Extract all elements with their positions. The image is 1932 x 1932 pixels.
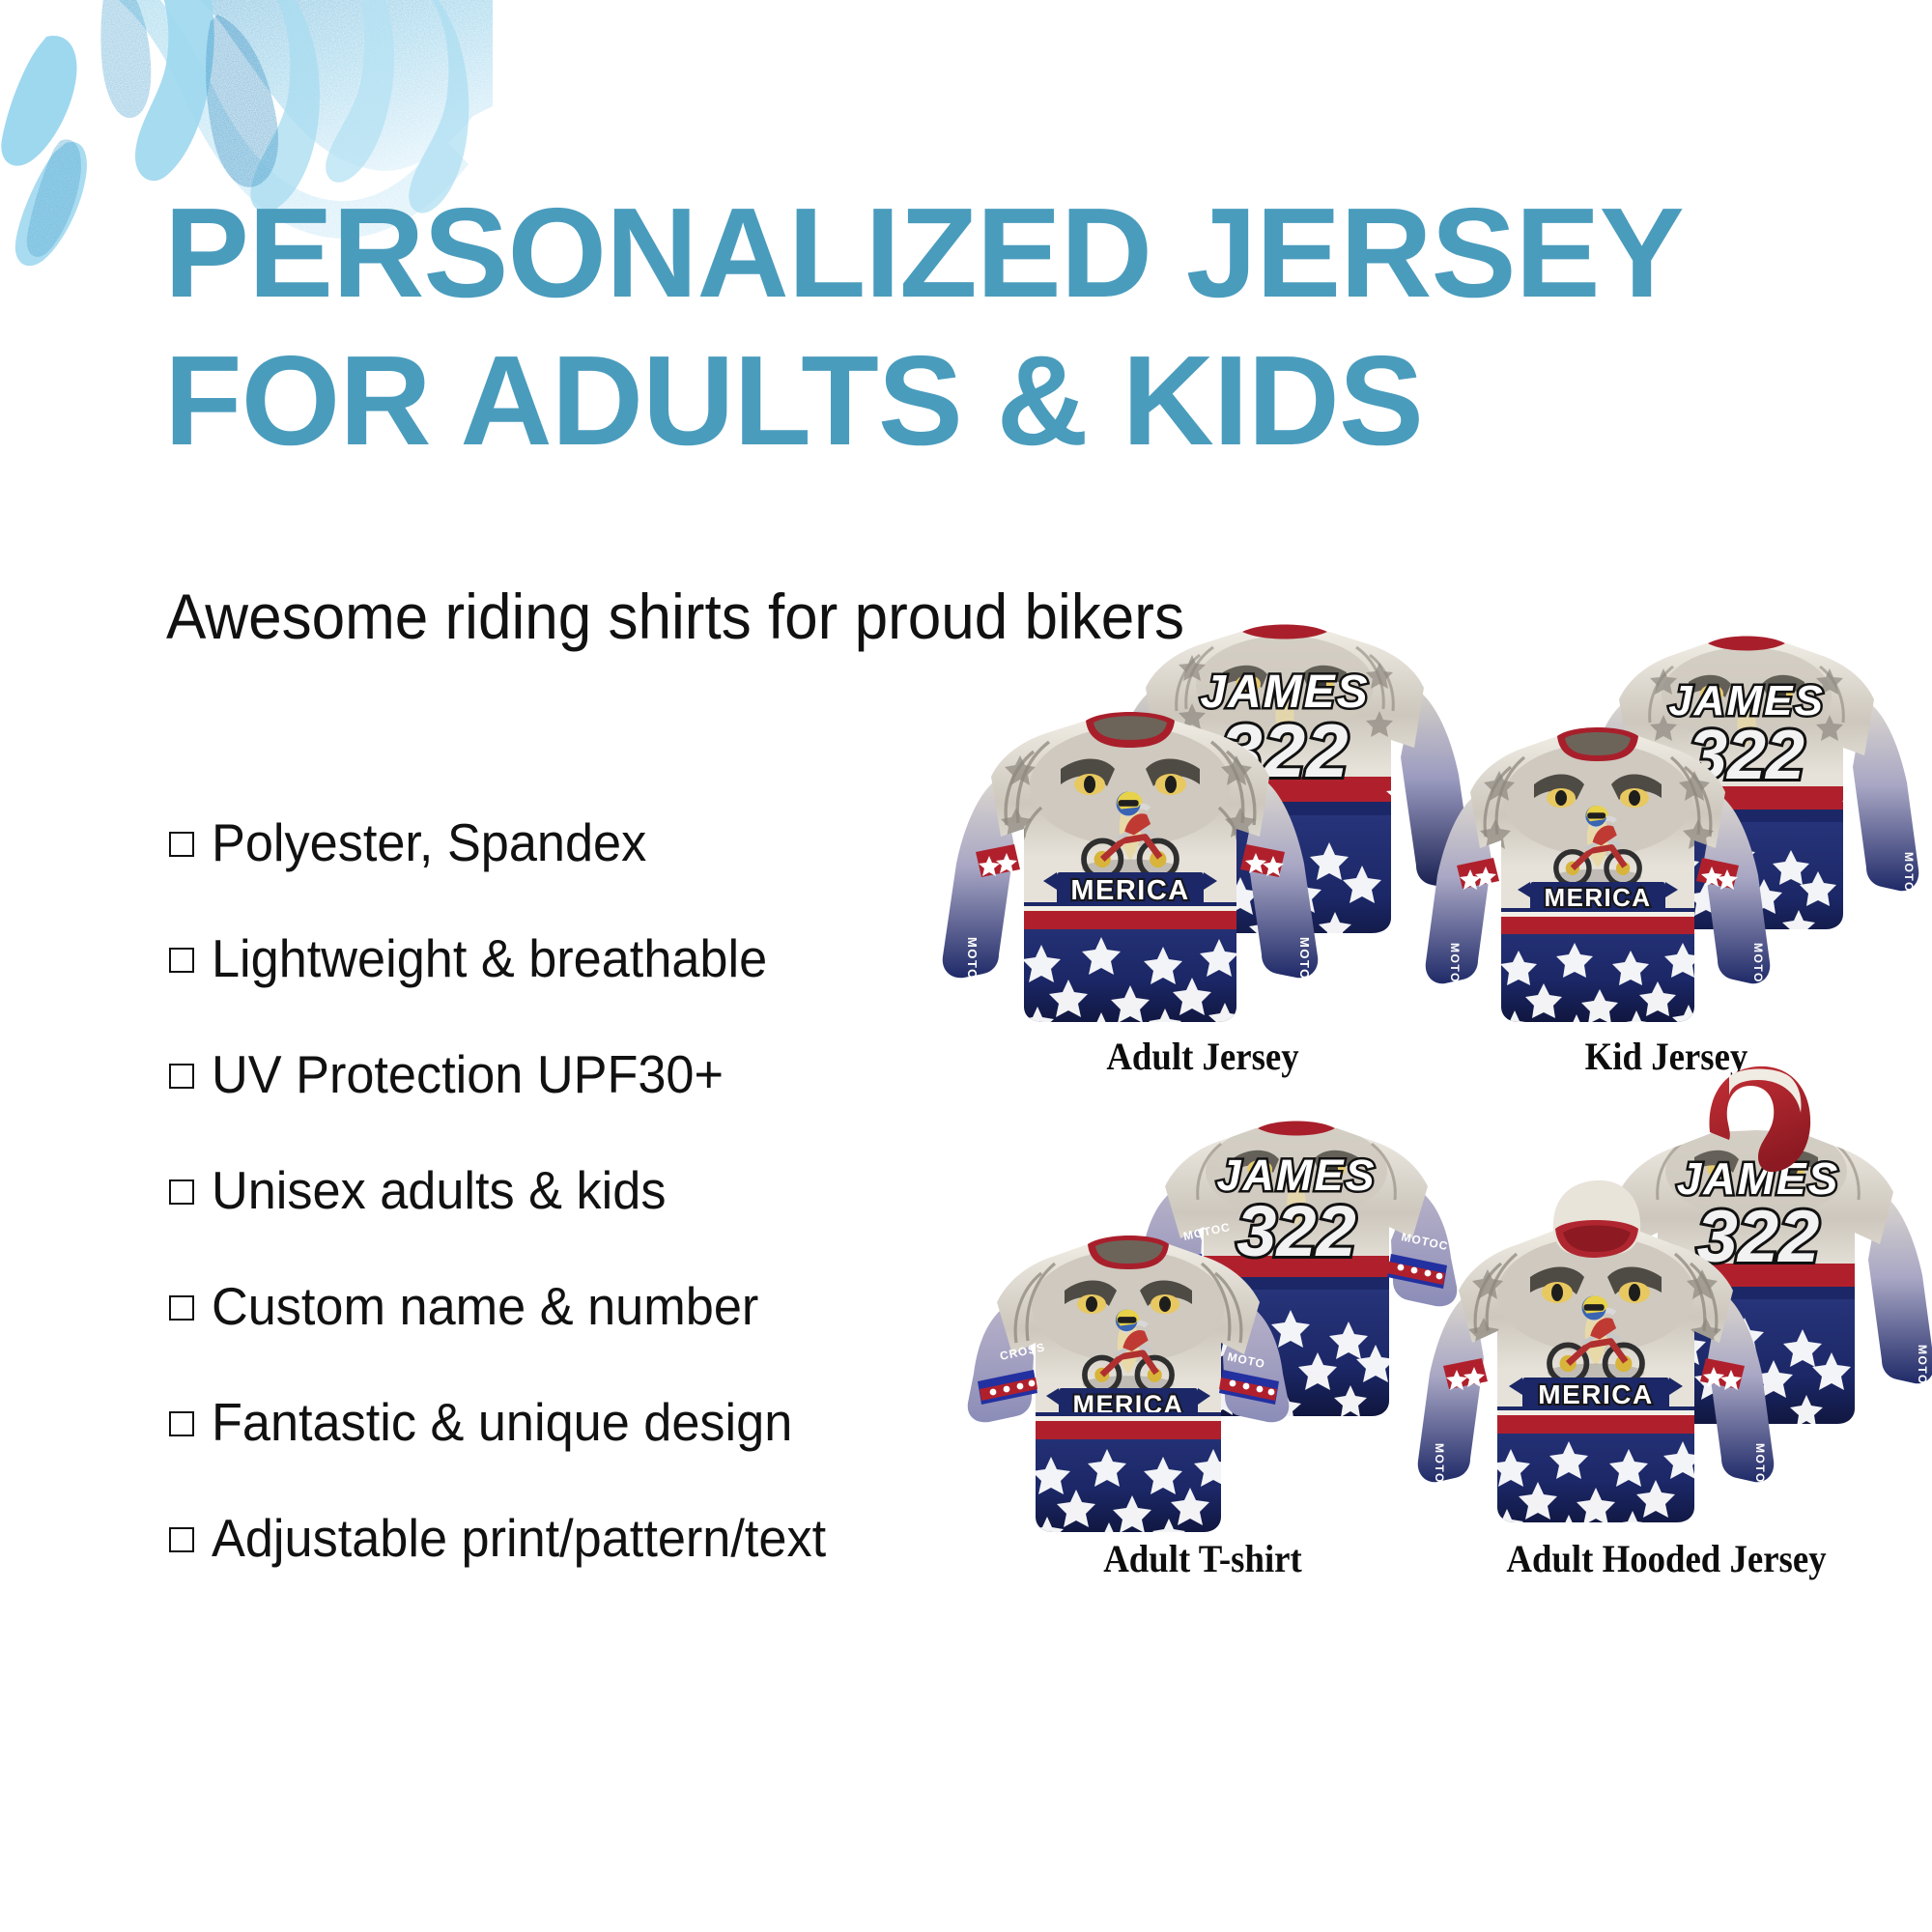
product-caption: Kid Jersey bbox=[1458, 1034, 1875, 1079]
marketing-poster: PERSONALIZED JERSEY FOR ADULTS & KIDS Aw… bbox=[0, 0, 1932, 1932]
feature-label: Adjustable print/pattern/text bbox=[212, 1507, 826, 1569]
feature-item: Adjustable print/pattern/text bbox=[169, 1507, 961, 1623]
feature-label: Lightweight & breathable bbox=[212, 927, 767, 989]
headline-line-2: FOR ADULTS & KIDS bbox=[164, 327, 1710, 474]
product-caption: Adult Hooded Jersey bbox=[1458, 1536, 1875, 1581]
svg-text:MERICA: MERICA bbox=[1545, 883, 1652, 912]
svg-text:MOTOCROSS: MOTOCROSS bbox=[1297, 937, 1312, 1033]
checkbox-icon bbox=[169, 948, 194, 973]
svg-text:MOTOCROSS: MOTOCROSS bbox=[1433, 1443, 1446, 1532]
adult-jersey-image: JAMES 322 MOTOCROSS MOTOCROSS bbox=[976, 609, 1430, 1034]
feature-label: UV Protection UPF30+ bbox=[212, 1043, 724, 1105]
adult-tshirt-image: JAMES 322 bbox=[976, 1111, 1430, 1536]
feature-label: Unisex adults & kids bbox=[212, 1159, 666, 1221]
checkbox-icon bbox=[169, 1295, 194, 1321]
feature-list: Polyester, Spandex Lightweight & breatha… bbox=[169, 811, 961, 1623]
svg-text:MOTOCROSS: MOTOCROSS bbox=[1902, 852, 1916, 941]
product-caption: Adult T-shirt bbox=[994, 1536, 1411, 1581]
kid-jersey-image: JAMES 322 MOTOCROSS MOTOCROSS bbox=[1439, 609, 1893, 1034]
checkbox-icon bbox=[169, 832, 194, 857]
svg-text:MOTOCROSS: MOTOCROSS bbox=[965, 937, 980, 1033]
checkbox-icon bbox=[169, 1064, 194, 1089]
feature-label: Polyester, Spandex bbox=[212, 811, 646, 873]
product-card-adult-hooded-jersey[interactable]: JAMES 322 MOTOCROSS MOTOCROSS bbox=[1439, 1111, 1893, 1613]
feature-item: UV Protection UPF30+ bbox=[169, 1043, 961, 1159]
checkbox-icon bbox=[169, 1411, 194, 1436]
feature-item: Polyester, Spandex bbox=[169, 811, 961, 927]
checkbox-icon bbox=[169, 1527, 194, 1552]
svg-text:MOTOCROSS: MOTOCROSS bbox=[1751, 943, 1765, 1032]
feature-item: Fantastic & unique design bbox=[169, 1391, 961, 1507]
svg-text:MOTOCROSS: MOTOCROSS bbox=[1753, 1443, 1767, 1532]
svg-text:MOTOCROSS: MOTOCROSS bbox=[1448, 943, 1462, 1032]
svg-text:322: 322 bbox=[1236, 1191, 1355, 1271]
checkbox-icon bbox=[169, 1179, 194, 1205]
front-banner-text: MERICA bbox=[1070, 875, 1189, 906]
product-caption: Adult Jersey bbox=[994, 1034, 1411, 1079]
product-card-adult-tshirt[interactable]: JAMES 322 bbox=[976, 1111, 1430, 1613]
svg-text:MOTOCROSS: MOTOCROSS bbox=[1916, 1345, 1929, 1434]
feature-item: Unisex adults & kids bbox=[169, 1159, 961, 1275]
feature-item: Custom name & number bbox=[169, 1275, 961, 1391]
feature-label: Custom name & number bbox=[212, 1275, 758, 1337]
feature-label: Fantastic & unique design bbox=[212, 1391, 792, 1453]
page-title: PERSONALIZED JERSEY FOR ADULTS & KIDS bbox=[164, 179, 1710, 474]
svg-text:322: 322 bbox=[1697, 1196, 1820, 1278]
product-gallery: JAMES 322 MOTOCROSS MOTOCROSS bbox=[976, 609, 1903, 1633]
svg-text:MERICA: MERICA bbox=[1538, 1379, 1653, 1409]
headline-line-1: PERSONALIZED JERSEY bbox=[164, 179, 1710, 327]
adult-hooded-jersey-image: JAMES 322 MOTOCROSS MOTOCROSS bbox=[1439, 1111, 1893, 1536]
product-card-kid-jersey[interactable]: JAMES 322 MOTOCROSS MOTOCROSS bbox=[1439, 609, 1893, 1111]
feature-item: Lightweight & breathable bbox=[169, 927, 961, 1043]
product-card-adult-jersey[interactable]: JAMES 322 MOTOCROSS MOTOCROSS bbox=[976, 609, 1430, 1111]
